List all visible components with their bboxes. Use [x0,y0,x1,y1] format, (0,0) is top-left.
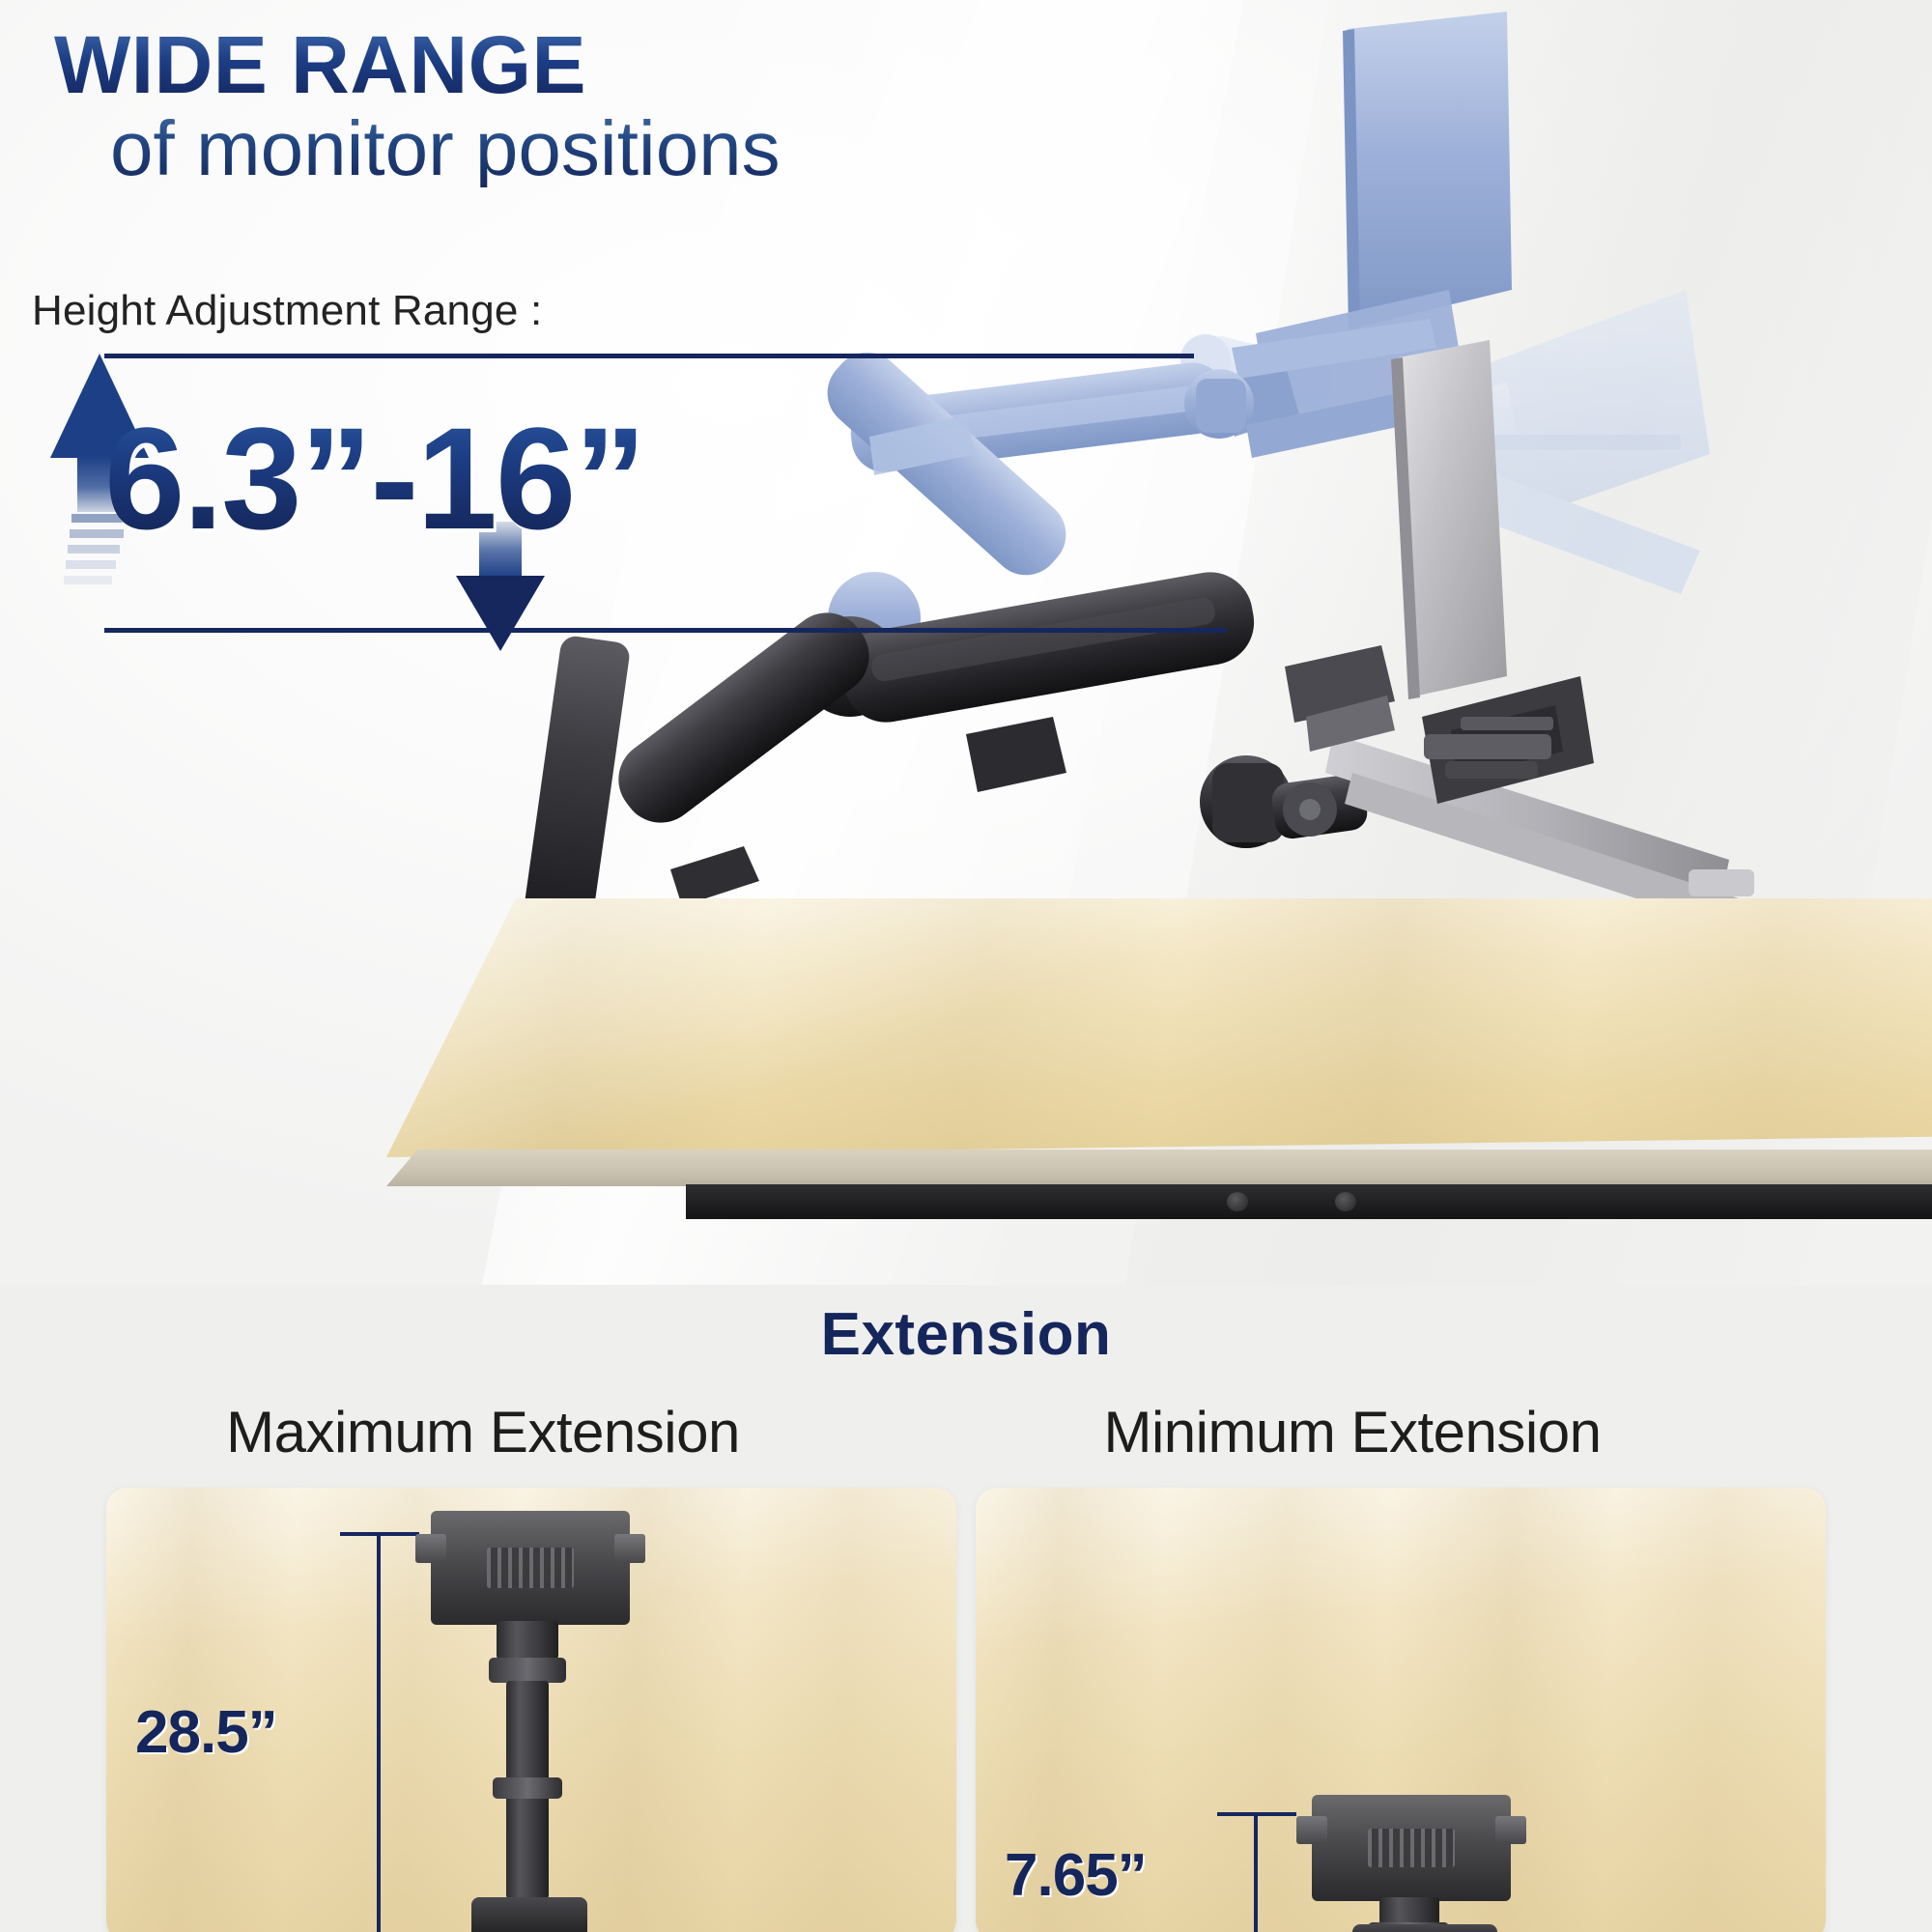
height-reference-line-top [104,354,1194,358]
monitor-mount-min-icon [1312,1795,1511,1901]
monitor-mount-max-icon [431,1511,630,1625]
desk-underside [686,1184,1932,1219]
height-adjustment-label: Height Adjustment Range : [32,287,542,335]
mount-collar [489,1658,566,1683]
height-reference-line-bottom [104,628,1227,633]
mount-clamp-base [471,1897,587,1932]
infographic-root: WIDE RANGE of monitor positions [0,0,1932,1932]
desk-edge [386,1150,1932,1186]
max-extension-title: Maximum Extension [106,1399,860,1465]
desk-gloss [386,898,1932,1157]
height-range-value: 6.3”-16” [104,406,644,551]
min-extension-value: 7.65” [1005,1841,1147,1910]
desk-screw-icon [1335,1192,1356,1211]
extension-section-title: Extension [0,1300,1932,1369]
mount-clamp-base [1352,1924,1497,1932]
ghost-arm-main [813,338,1254,589]
max-extension-value: 28.5” [135,1698,277,1767]
hero-panel: WIDE RANGE of monitor positions [0,0,1932,1285]
min-extension-panel: 7.65” [976,1488,1826,1932]
max-extension-panel: 28.5” [106,1488,956,1932]
desk-screw-icon [1227,1192,1248,1211]
min-extension-title: Minimum Extension [976,1399,1729,1465]
dim-line-vertical [1254,1812,1258,1932]
mount-collar [493,1777,562,1799]
desk-surface [386,898,1932,1157]
dim-line-vertical [377,1532,381,1932]
mount-neck [497,1621,558,1660]
